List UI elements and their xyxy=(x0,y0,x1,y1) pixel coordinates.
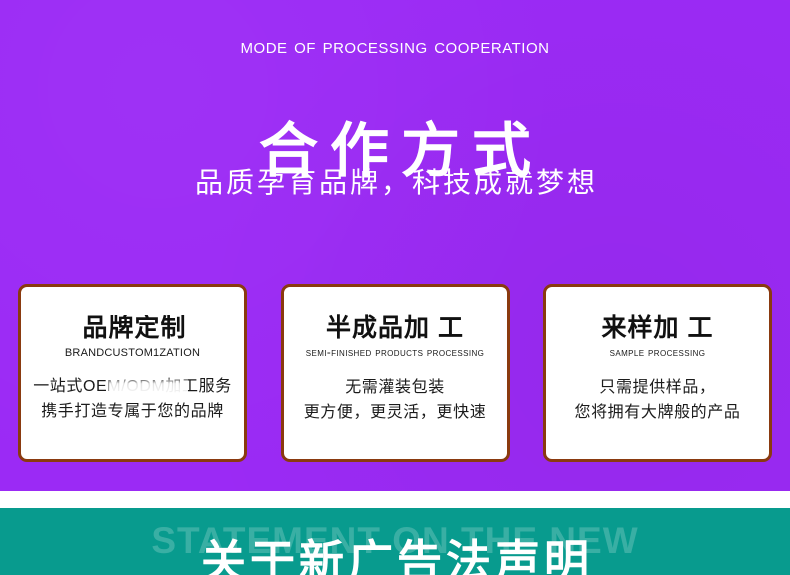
card-description-line-1: 只需提供样品， xyxy=(546,376,769,401)
card-description-line-1: 一站式OEM/ODM加工服务 xyxy=(33,375,232,400)
card-semi-finished-processing[interactable]: 半成品加 工 Semi-finished products processing… xyxy=(281,284,510,462)
statement-band: STATEMENT ON THE NEW 关于新广告法声明 xyxy=(0,508,790,575)
card-description: 一站式OEM/ODM加工服务 携手打造专属于您的品牌 xyxy=(21,375,244,425)
hero-subtitle: 品质孕育品牌，科技成就梦想 xyxy=(0,166,790,200)
card-description-line-2: 您将拥有大牌般的产品 xyxy=(546,401,769,426)
card-description: 只需提供样品， 您将拥有大牌般的产品 xyxy=(546,376,769,426)
card-english-subtitle: Semi-finished products processing xyxy=(306,348,485,360)
card-title: 品牌定制 xyxy=(82,315,186,341)
page-root: Mode of processing cooperation 合作方式 品质孕育… xyxy=(0,0,790,575)
card-title: 半成品加 工 xyxy=(326,315,464,341)
card-description-line-2: 携手打造专属于您的品牌 xyxy=(21,400,244,425)
card-sample-processing[interactable]: 来样加 工 Sample processing 只需提供样品， 您将拥有大牌般的… xyxy=(543,284,772,462)
card-description-line-1: 无需灌装包装 xyxy=(284,376,507,401)
card-content: 来样加 工 Sample processing 只需提供样品， 您将拥有大牌般的… xyxy=(546,287,769,459)
hero-section: Mode of processing cooperation 合作方式 品质孕育… xyxy=(0,0,790,491)
card-title: 来样加 工 xyxy=(602,315,714,341)
card-content: 品牌定制 BRANDCUSTOM1ZATION 一站式OEM/ODM加工服务 携… xyxy=(21,287,244,459)
card-brand-customization[interactable]: 品牌定制 BRANDCUSTOM1ZATION 一站式OEM/ODM加工服务 携… xyxy=(18,284,247,462)
statement-band-title: 关于新广告法声明 xyxy=(0,537,790,575)
card-english-subtitle: Sample processing xyxy=(610,348,706,360)
cards-row: 品牌定制 BRANDCUSTOM1ZATION 一站式OEM/ODM加工服务 携… xyxy=(18,284,772,462)
card-description: 无需灌装包装 更方便，更灵活，更快速 xyxy=(284,376,507,426)
card-content: 半成品加 工 Semi-finished products processing… xyxy=(284,287,507,459)
card-english-subtitle: BRANDCUSTOM1ZATION xyxy=(65,348,200,359)
hero-eyebrow-text: Mode of processing cooperation xyxy=(0,35,790,57)
card-description-line-2: 更方便，更灵活，更快速 xyxy=(284,401,507,426)
